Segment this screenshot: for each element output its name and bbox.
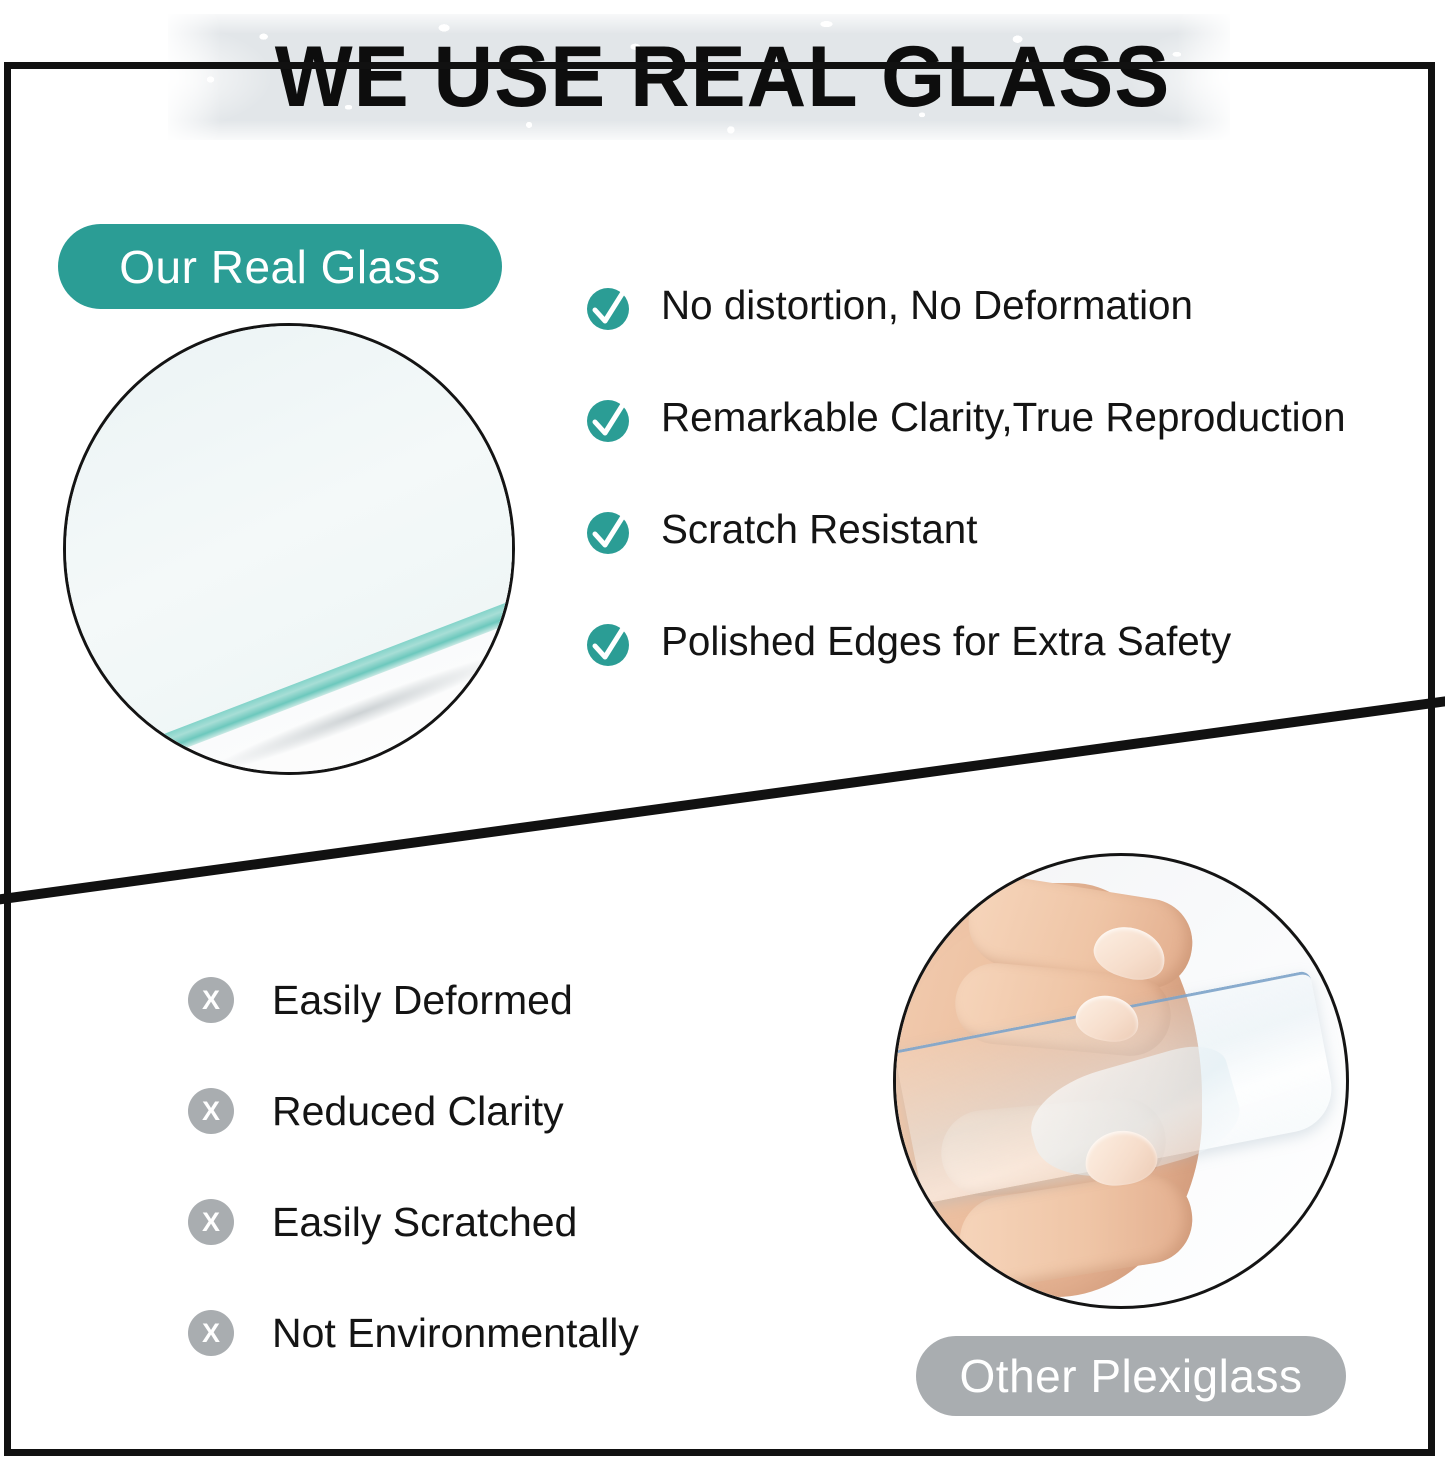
comparison-infographic: WE USE REAL GLASS Our Real Glass No dist… [0, 0, 1445, 1470]
drawbacks-list: X Easily Deformed X Reduced Clarity X Ea… [188, 974, 808, 1418]
x-circle-icon: X [188, 1199, 234, 1245]
list-item-label: No distortion, No Deformation [661, 272, 1193, 338]
list-item: Scratch Resistant [583, 502, 1438, 614]
list-item: No distortion, No Deformation [583, 278, 1438, 390]
list-item-label: Easily Deformed [272, 967, 573, 1033]
x-circle-icon: X [188, 1088, 234, 1134]
check-circle-icon [583, 283, 633, 333]
benefits-list: No distortion, No Deformation Remarkable… [583, 278, 1438, 726]
list-item-label: Scratch Resistant [661, 496, 977, 562]
badge-our-real-glass: Our Real Glass [58, 224, 502, 309]
list-item-label: Remarkable Clarity,True Reproduction [661, 384, 1346, 450]
x-circle-icon: X [188, 977, 234, 1023]
list-item-label: Easily Scratched [272, 1189, 577, 1255]
list-item: X Reduced Clarity [188, 1085, 808, 1196]
x-circle-icon: X [188, 1310, 234, 1356]
badge-other-plexiglass-label: Other Plexiglass [960, 1349, 1303, 1403]
check-circle-icon [583, 395, 633, 445]
list-item-label: Not Environmentally [272, 1300, 639, 1366]
list-item: X Not Environmentally [188, 1307, 808, 1418]
badge-our-real-glass-label: Our Real Glass [119, 240, 440, 294]
list-item: Polished Edges for Extra Safety [583, 614, 1438, 726]
real-glass-photo [63, 323, 515, 775]
list-item: Remarkable Clarity,True Reproduction [583, 390, 1438, 502]
list-item-label: Reduced Clarity [272, 1078, 564, 1144]
list-item: X Easily Scratched [188, 1196, 808, 1307]
list-item: X Easily Deformed [188, 974, 808, 1085]
check-circle-icon [583, 619, 633, 669]
plexiglass-photo [893, 853, 1349, 1309]
list-item-label: Polished Edges for Extra Safety [661, 608, 1231, 674]
page-title: WE USE REAL GLASS [29, 14, 1416, 140]
check-circle-icon [583, 507, 633, 557]
badge-other-plexiglass: Other Plexiglass [916, 1336, 1346, 1416]
